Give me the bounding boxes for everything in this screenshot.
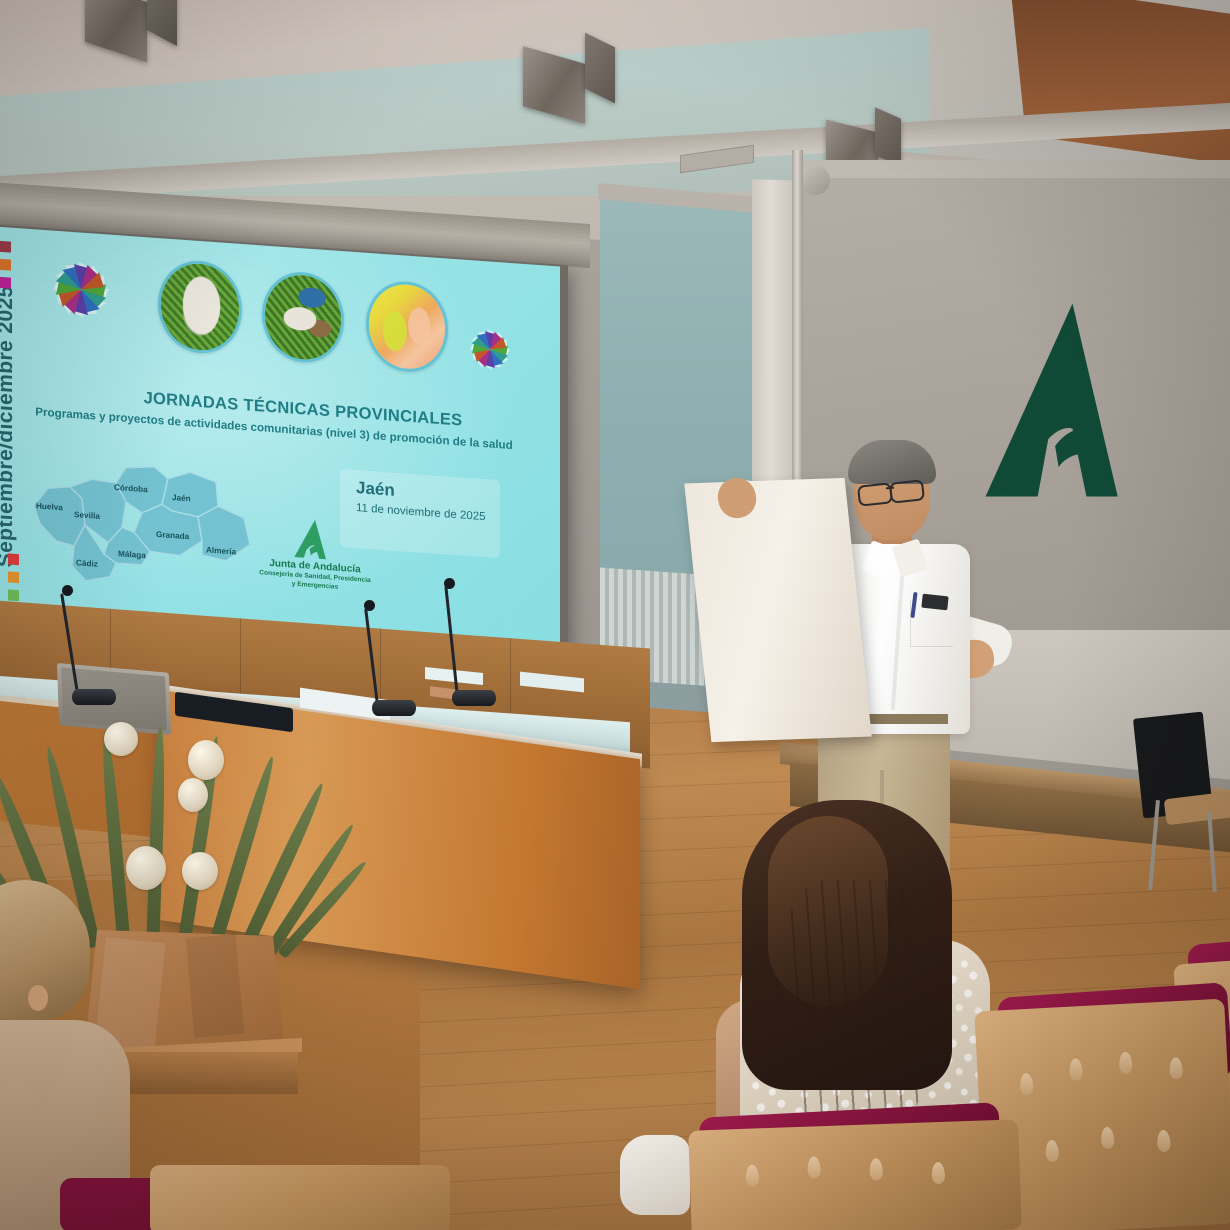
map-label-huelva: Huelva	[36, 501, 63, 512]
map-label-jaen: Jaén	[172, 493, 191, 503]
slide-decor-square-bottom-2	[8, 589, 19, 601]
flower	[188, 740, 224, 780]
attendee-white-shoe	[620, 1135, 690, 1215]
glasses-icon	[889, 479, 925, 503]
slide-decor-squares-bottom	[8, 553, 19, 608]
slide-decor-square-top-1	[0, 259, 11, 271]
andalucia-map-graphic: Huelva Sevilla Córdoba Jaén Granada Alme…	[30, 451, 260, 595]
slide-decor-squares-top	[0, 241, 11, 296]
attendee-woman-hair-strands	[790, 880, 920, 1130]
microphone-3[interactable]	[432, 578, 492, 708]
blank-poster-board[interactable]	[684, 478, 871, 742]
slide-date-city: Jaén	[356, 478, 395, 501]
slide-decor-square-top-0	[0, 241, 11, 253]
glasses-icon	[857, 482, 893, 506]
junta-de-andalucia-logo: Junta de Andalucía Consejería de Sanidad…	[250, 515, 380, 595]
attendee-blonde-ear	[28, 985, 48, 1011]
name-badge	[921, 594, 948, 611]
right-blind-header	[798, 160, 1230, 178]
slide-photo-bare-foot-on-grass	[158, 258, 242, 356]
map-label-malaga: Málaga	[118, 549, 146, 560]
slide-decor-square-top-2	[0, 277, 11, 289]
flower	[178, 778, 208, 812]
flower	[126, 846, 166, 890]
conference-room-photo: Septiembre/diciembre 2025 JORNADAS TÉCNI…	[0, 0, 1230, 1230]
flower	[104, 722, 138, 756]
flower	[182, 852, 218, 890]
presenter-hair	[848, 440, 936, 484]
microphone-1[interactable]	[50, 585, 110, 705]
slide-photo-feet-with-sock	[262, 269, 344, 365]
map-label-sevilla: Sevilla	[74, 510, 100, 521]
slide-decor-square-bottom-0	[8, 553, 19, 565]
slide-decor-square-bottom-1	[8, 571, 19, 583]
plant-wrap-fold	[186, 934, 245, 1038]
auditorium-chair-back[interactable]	[688, 1119, 1022, 1230]
slide-photo-thermal-feet	[366, 279, 448, 375]
auditorium-chair-back[interactable]	[150, 1165, 450, 1230]
blind-roller[interactable]	[800, 165, 830, 195]
junta-a-mark-icon	[294, 518, 336, 561]
map-label-cadiz: Cádiz	[76, 558, 98, 569]
pinwheel-graphic-right	[462, 320, 518, 380]
pinwheel-graphic-left	[42, 248, 120, 332]
